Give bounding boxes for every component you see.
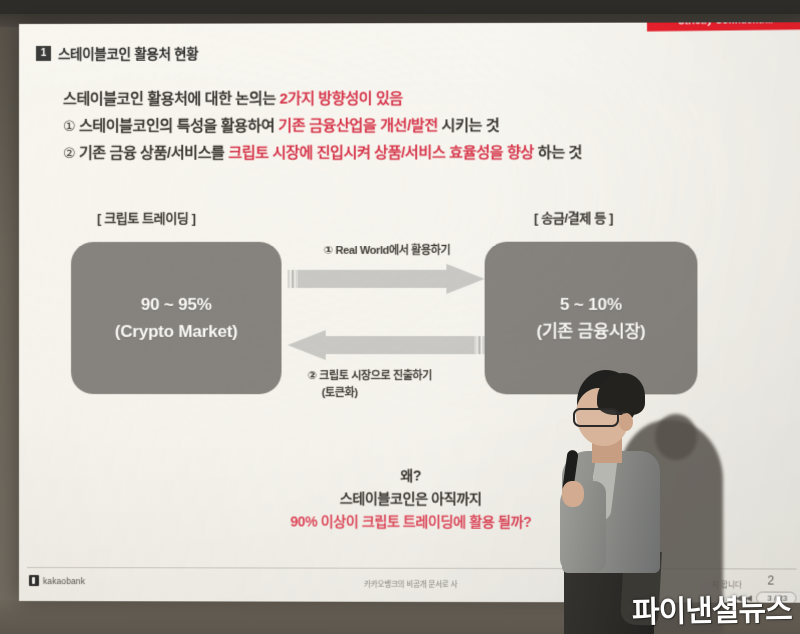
- lead-line-1-highlight: 2가지 방향성이 있음: [280, 90, 403, 107]
- traditional-finance-percentage: 5 ~ 10%: [560, 291, 622, 318]
- presenter-ear: [619, 413, 633, 431]
- lead-line-2-number: ①: [63, 118, 75, 134]
- arrow-right-to-finance: [288, 264, 485, 290]
- arrow-left-to-crypto: [288, 330, 485, 356]
- arrow-left-icon: [288, 330, 485, 360]
- crypto-trading-box: 90 ~ 95% (Crypto Market): [71, 242, 281, 394]
- presenter-glasses: [573, 408, 619, 427]
- presentation-photo: Strictly Confidential 1 스테이블코인 활용처 현황 스테…: [0, 0, 800, 634]
- news-watermark: 파이낸셜뉴스: [632, 585, 792, 632]
- lead-line-1-text: 스테이블코인 활용처에 대한 논의는: [63, 91, 280, 108]
- slide-title-row: 1 스테이블코인 활용처 현황: [36, 43, 198, 63]
- lead-line-2: ① 스테이블코인의 특성을 활용하여 기존 금융산업을 개선/발전 시키는 것: [63, 112, 767, 140]
- lead-line-2-highlight: 기존 금융산업을 개선/발전: [278, 117, 438, 134]
- lead-paragraph: 스테이블코인 활용처에 대한 논의는 2가지 방향성이 있음 ① 스테이블코인의…: [63, 86, 767, 167]
- lead-line-3: ② 기존 금융 상품/서비스를 크립토 시장에 진입시켜 상품/서비스 효율성을…: [63, 139, 767, 167]
- slide-number-badge: 1: [36, 45, 51, 60]
- lead-line-1: 스테이블코인 활용처에 대한 논의는 2가지 방향성이 있음: [63, 86, 767, 113]
- traditional-finance-label: (기존 금융시장): [536, 318, 645, 345]
- right-box-caption: [ 송금/결제 등 ]: [534, 208, 613, 227]
- arrow-left-label: ② 크립토 시장으로 진출하기: [292, 367, 499, 383]
- lead-line-3-text-a: 기존 금융 상품/서비스를: [75, 145, 228, 162]
- lead-line-3-number: ②: [63, 145, 75, 161]
- lead-line-2-text-a: 스테이블코인의 특성을 활용하여: [75, 118, 278, 135]
- lead-line-3-text-b: 하는 것: [534, 144, 582, 161]
- arrow-left-sublabel: (토큰화): [292, 384, 513, 400]
- left-box-caption: [ 크립토 트레이딩 ]: [97, 208, 196, 227]
- crypto-trading-label: (Crypto Market): [115, 318, 238, 345]
- crypto-trading-percentage: 90 ~ 95%: [141, 291, 212, 318]
- lead-line-3-highlight: 크립토 시장에 진입시켜 상품/서비스 효율성을 향상: [228, 144, 534, 161]
- arrow-right-icon: [288, 264, 485, 294]
- arrow-right-label: ① Real World에서 활용하기: [298, 242, 477, 258]
- lead-line-2-text-b: 시키는 것: [438, 117, 500, 134]
- page-title: 스테이블코인 활용처 현황: [58, 43, 198, 63]
- confidential-badge: Strictly Confidential: [647, 22, 800, 31]
- presenter-hand: [562, 481, 584, 507]
